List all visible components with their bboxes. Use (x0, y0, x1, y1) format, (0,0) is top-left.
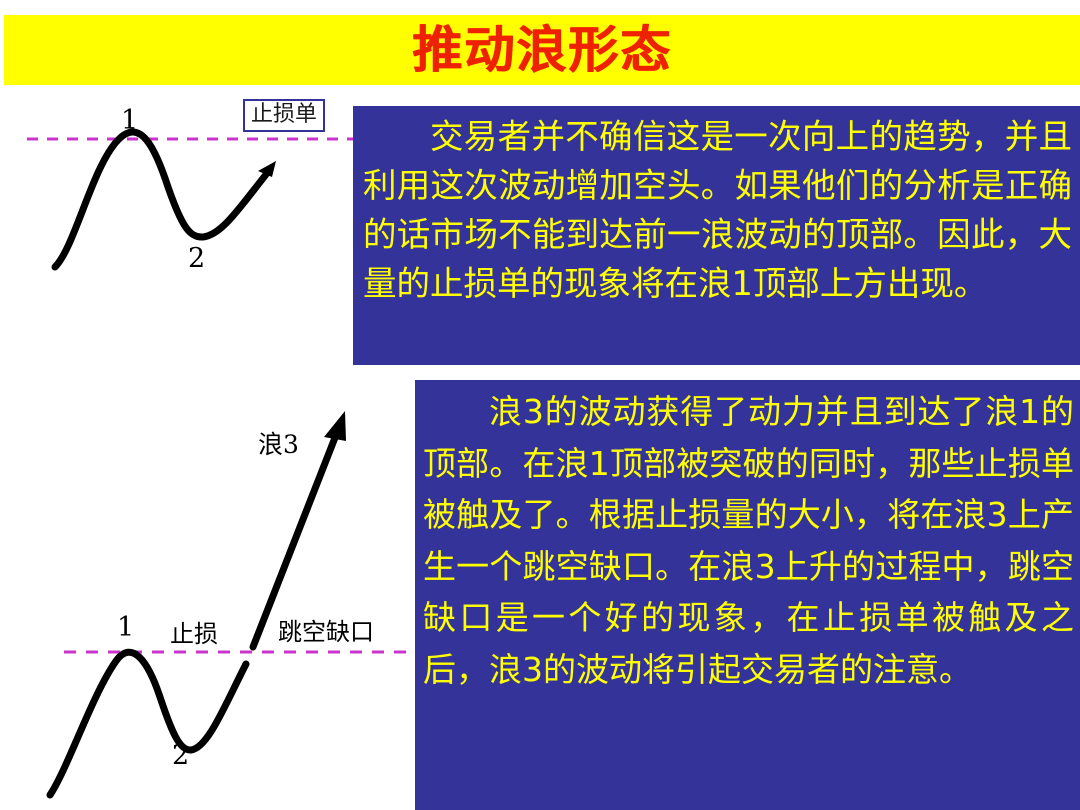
wave-chart-top-svg (0, 95, 360, 385)
wave3-label: 浪3 (258, 425, 299, 461)
wave-curve-top (55, 132, 268, 267)
wave-chart-bottom-svg (0, 385, 420, 810)
wave-label-2-bottom: 2 (172, 740, 189, 771)
page-title: 推动浪形态 (412, 25, 672, 75)
impulse-wave-diagram-top (0, 95, 360, 385)
impulse-wave-diagram-bottom (0, 385, 420, 810)
gap-label: 跳空缺口 (278, 612, 374, 647)
title-banner: 推动浪形态 (4, 15, 1080, 85)
wave-label-2-top: 2 (188, 243, 205, 274)
explanation-panel-top-text: 交易者并不确信这是一次向上的趋势，并且利用这次波动增加空头。如果他们的分析是正确… (363, 112, 1072, 308)
wave-label-1-bottom: 1 (117, 612, 134, 643)
explanation-panel-bottom-text: 浪3的波动获得了动力并且到达了浪1的顶部。在浪1顶部被突破的同时，那些止损单被触… (423, 386, 1074, 695)
stop-loss-label: 止损 (170, 614, 218, 649)
wave-curve-bottom (50, 652, 246, 795)
explanation-panel-bottom: 浪3的波动获得了动力并且到达了浪1的顶部。在浪1顶部被突破的同时，那些止损单被触… (415, 380, 1080, 810)
stop-order-tag: 止损单 (243, 99, 325, 132)
wave-label-1-top: 1 (121, 105, 138, 136)
wave-arrowhead-top (258, 161, 276, 177)
explanation-panel-top: 交易者并不确信这是一次向上的趋势，并且利用这次波动增加空头。如果他们的分析是正确… (353, 106, 1080, 365)
wave3-gap-arrowhead (324, 411, 346, 441)
